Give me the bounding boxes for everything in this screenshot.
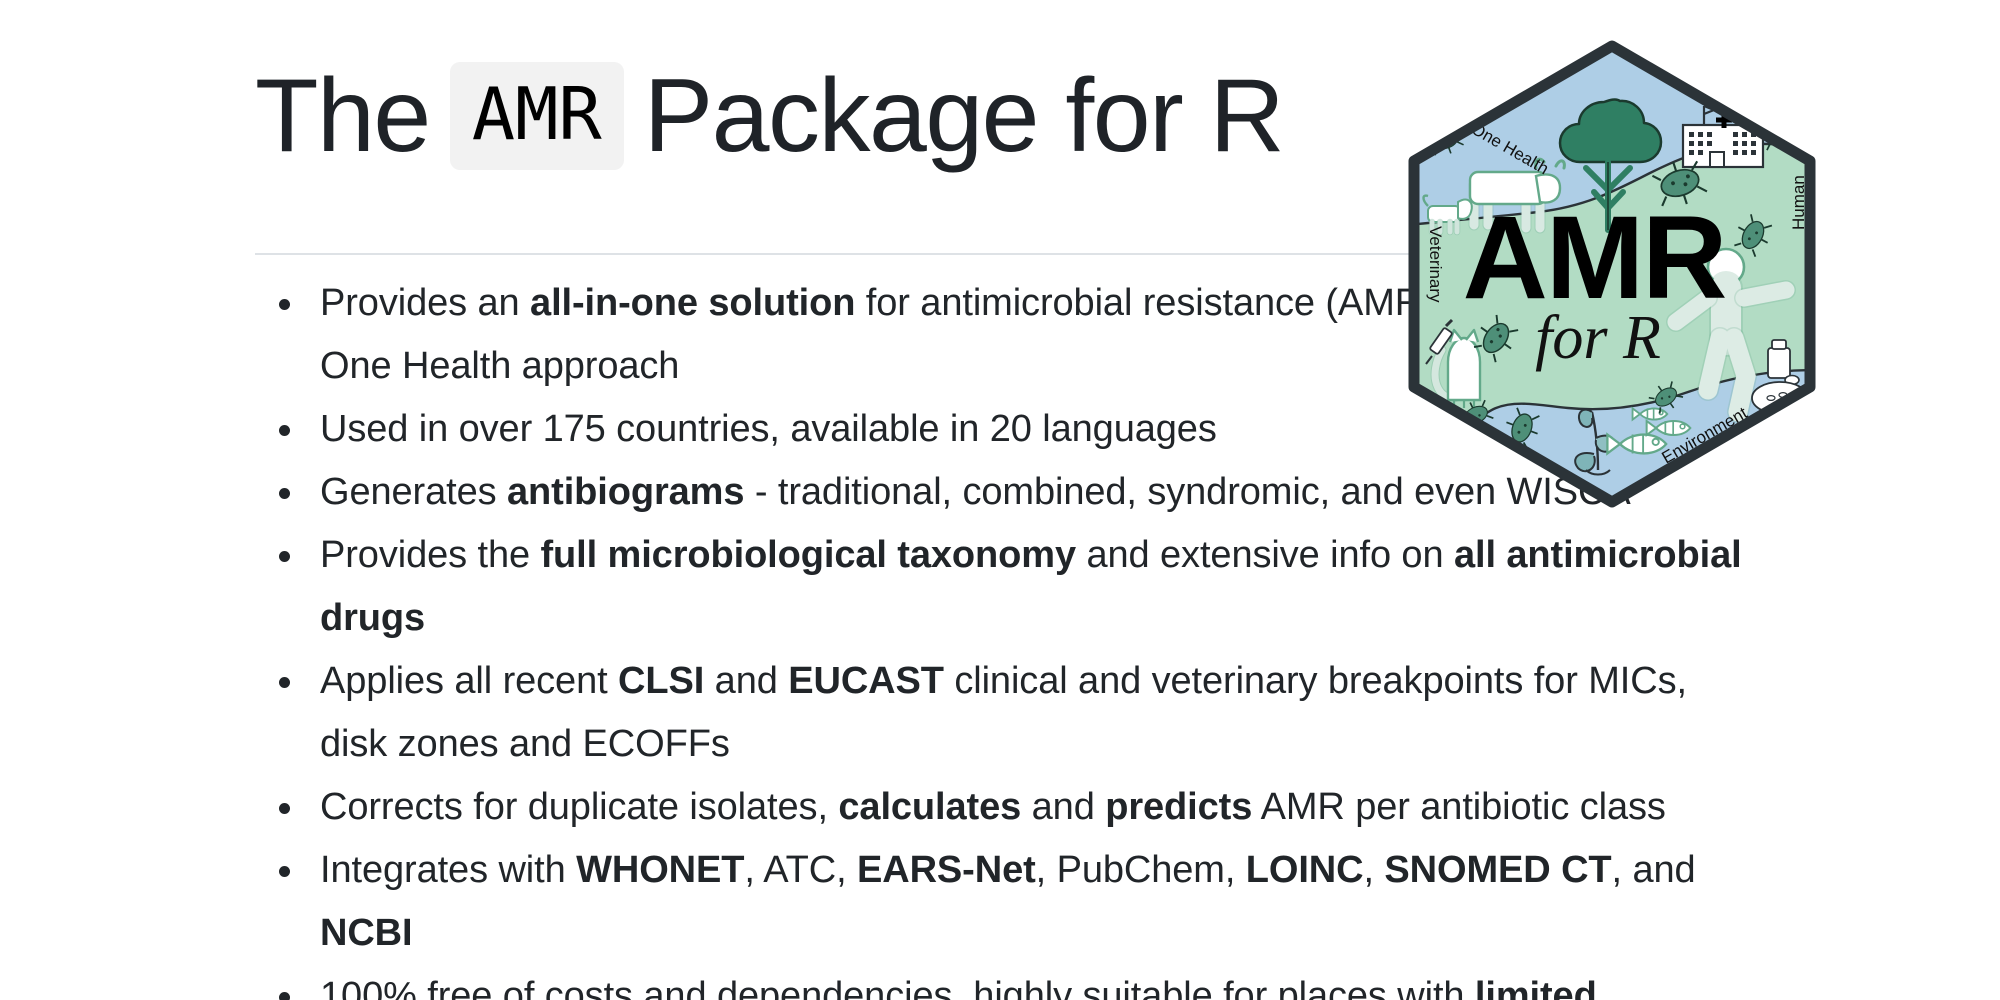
- feature-text: Integrates with: [320, 849, 576, 891]
- feature-item-clsi-eucast-breakpoints: Applies all recent CLSI and EUCAST clini…: [255, 650, 1755, 776]
- feature-text: Corrects for duplicate isolates,: [320, 786, 838, 828]
- feature-text: and: [704, 660, 788, 702]
- feature-emphasis: calculates: [838, 786, 1021, 828]
- logo-center-subtitle: for R: [1535, 304, 1661, 372]
- feature-text: Generates: [320, 471, 507, 513]
- feature-text: ,: [1364, 849, 1385, 891]
- feature-emphasis: WHONET: [576, 849, 744, 891]
- feature-item-taxonomy-drugs: Provides the full microbiological taxono…: [255, 524, 1755, 650]
- feature-text: Used in over 175 countries, available in…: [320, 408, 1217, 450]
- feature-text: , PubChem,: [1036, 849, 1246, 891]
- feature-emphasis: NCBI: [320, 912, 413, 954]
- logo-label-veterinary: Veterinary: [1426, 226, 1445, 303]
- title-prefix: The: [255, 64, 450, 168]
- feature-text: and: [1021, 786, 1105, 828]
- feature-item-duplicates-calculates-predicts: Corrects for duplicate isolates, calcula…: [255, 776, 1755, 839]
- feature-emphasis: SNOMED CT: [1384, 849, 1611, 891]
- feature-emphasis: LOINC: [1246, 849, 1364, 891]
- feature-emphasis: EUCAST: [788, 660, 944, 702]
- feature-text: Applies all recent: [320, 660, 618, 702]
- feature-emphasis: CLSI: [618, 660, 704, 702]
- feature-text: AMR per antibiotic class: [1252, 786, 1666, 828]
- title-suffix: Package for R: [624, 64, 1284, 168]
- feature-item-free-limited-resources: 100% free of costs and dependencies, hig…: [255, 965, 1755, 1000]
- feature-text: 100% free of costs and dependencies, hig…: [320, 975, 1475, 1000]
- feature-emphasis: all-in-one solution: [530, 282, 855, 324]
- title-heading: The AMR Package for R: [255, 62, 1283, 170]
- feature-text: , ATC,: [744, 849, 857, 891]
- feature-item-integrations: Integrates with WHONET, ATC, EARS-Net, P…: [255, 839, 1755, 965]
- page-title: The AMR Package for R: [255, 36, 1555, 196]
- slide: The AMR Package for R Provides an all-in…: [0, 0, 2000, 1000]
- feature-emphasis: full microbiological taxonomy: [540, 534, 1076, 576]
- feature-text: and extensive info on: [1076, 534, 1454, 576]
- feature-emphasis: EARS-Net: [857, 849, 1036, 891]
- feature-text: Provides the: [320, 534, 540, 576]
- feature-text: , and: [1612, 849, 1696, 891]
- title-code-badge: AMR: [450, 62, 624, 170]
- feature-text: Provides an: [320, 282, 530, 324]
- feature-emphasis: antibiograms: [507, 471, 744, 513]
- amr-hex-logo: AMR for R One Health Veterinary Human En…: [1408, 40, 1816, 508]
- feature-emphasis: predicts: [1105, 786, 1252, 828]
